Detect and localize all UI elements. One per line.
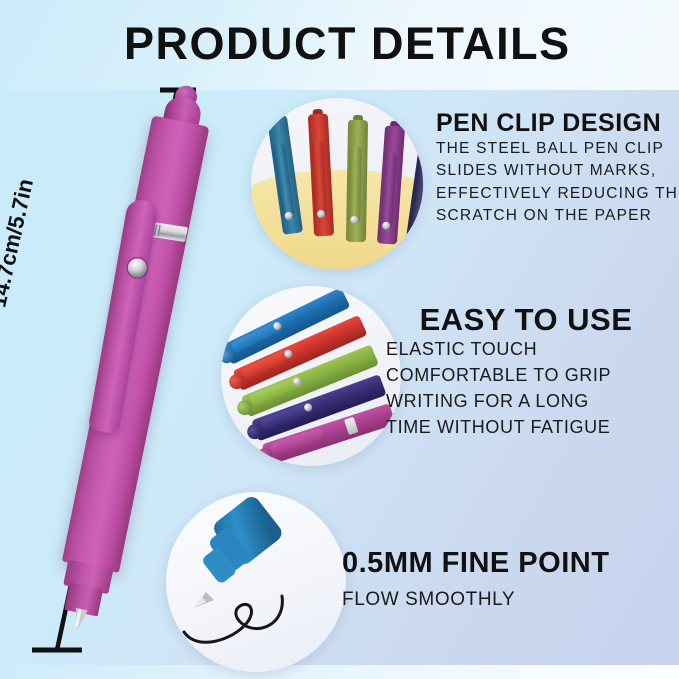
feature-line: TIME WITHOUT FATIGUE bbox=[386, 415, 666, 441]
feature-line: COMFORTABLE TO GRIP bbox=[386, 363, 666, 389]
feature-heading: 0.5MM FINE POINT bbox=[342, 548, 609, 580]
infographic-canvas: PRODUCT DETAILS 14.7cm/5.7in bbox=[0, 0, 679, 679]
feature-text-easy-to-use: EASY TO USE ELASTIC TOUCH COMFORTABLE TO… bbox=[386, 303, 666, 441]
feature-photo-easy-to-use bbox=[221, 286, 401, 466]
feature-heading: EASY TO USE bbox=[386, 303, 666, 337]
pen-barrel bbox=[62, 115, 210, 572]
feature-line: SLIDES WITHOUT MARKS, bbox=[436, 160, 679, 183]
feature-heading: PEN CLIP DESIGN bbox=[436, 110, 679, 138]
feature-line: FLOW SMOOTHLY bbox=[342, 586, 609, 614]
photo-pen-green bbox=[346, 120, 368, 242]
feature-line: THE STEEL BALL PEN CLIP bbox=[436, 138, 679, 161]
feature-text-fine-point: 0.5MM FINE POINT FLOW SMOOTHLY bbox=[342, 548, 609, 614]
feature-line: SCRATCH ON THE PAPER bbox=[436, 205, 679, 228]
feature-line: WRITING FOR A LONG bbox=[386, 389, 666, 415]
feature-photo-pen-clip-design bbox=[251, 98, 423, 270]
nib-writing-illustration bbox=[166, 492, 346, 672]
feature-line: EFFECTIVELY REDUCING THE bbox=[436, 183, 679, 206]
feature-line: ELASTIC TOUCH bbox=[386, 337, 666, 363]
feature-photo-fine-point bbox=[166, 492, 346, 672]
feature-text-pen-clip-design: PEN CLIP DESIGN THE STEEL BALL PEN CLIP … bbox=[436, 110, 679, 228]
